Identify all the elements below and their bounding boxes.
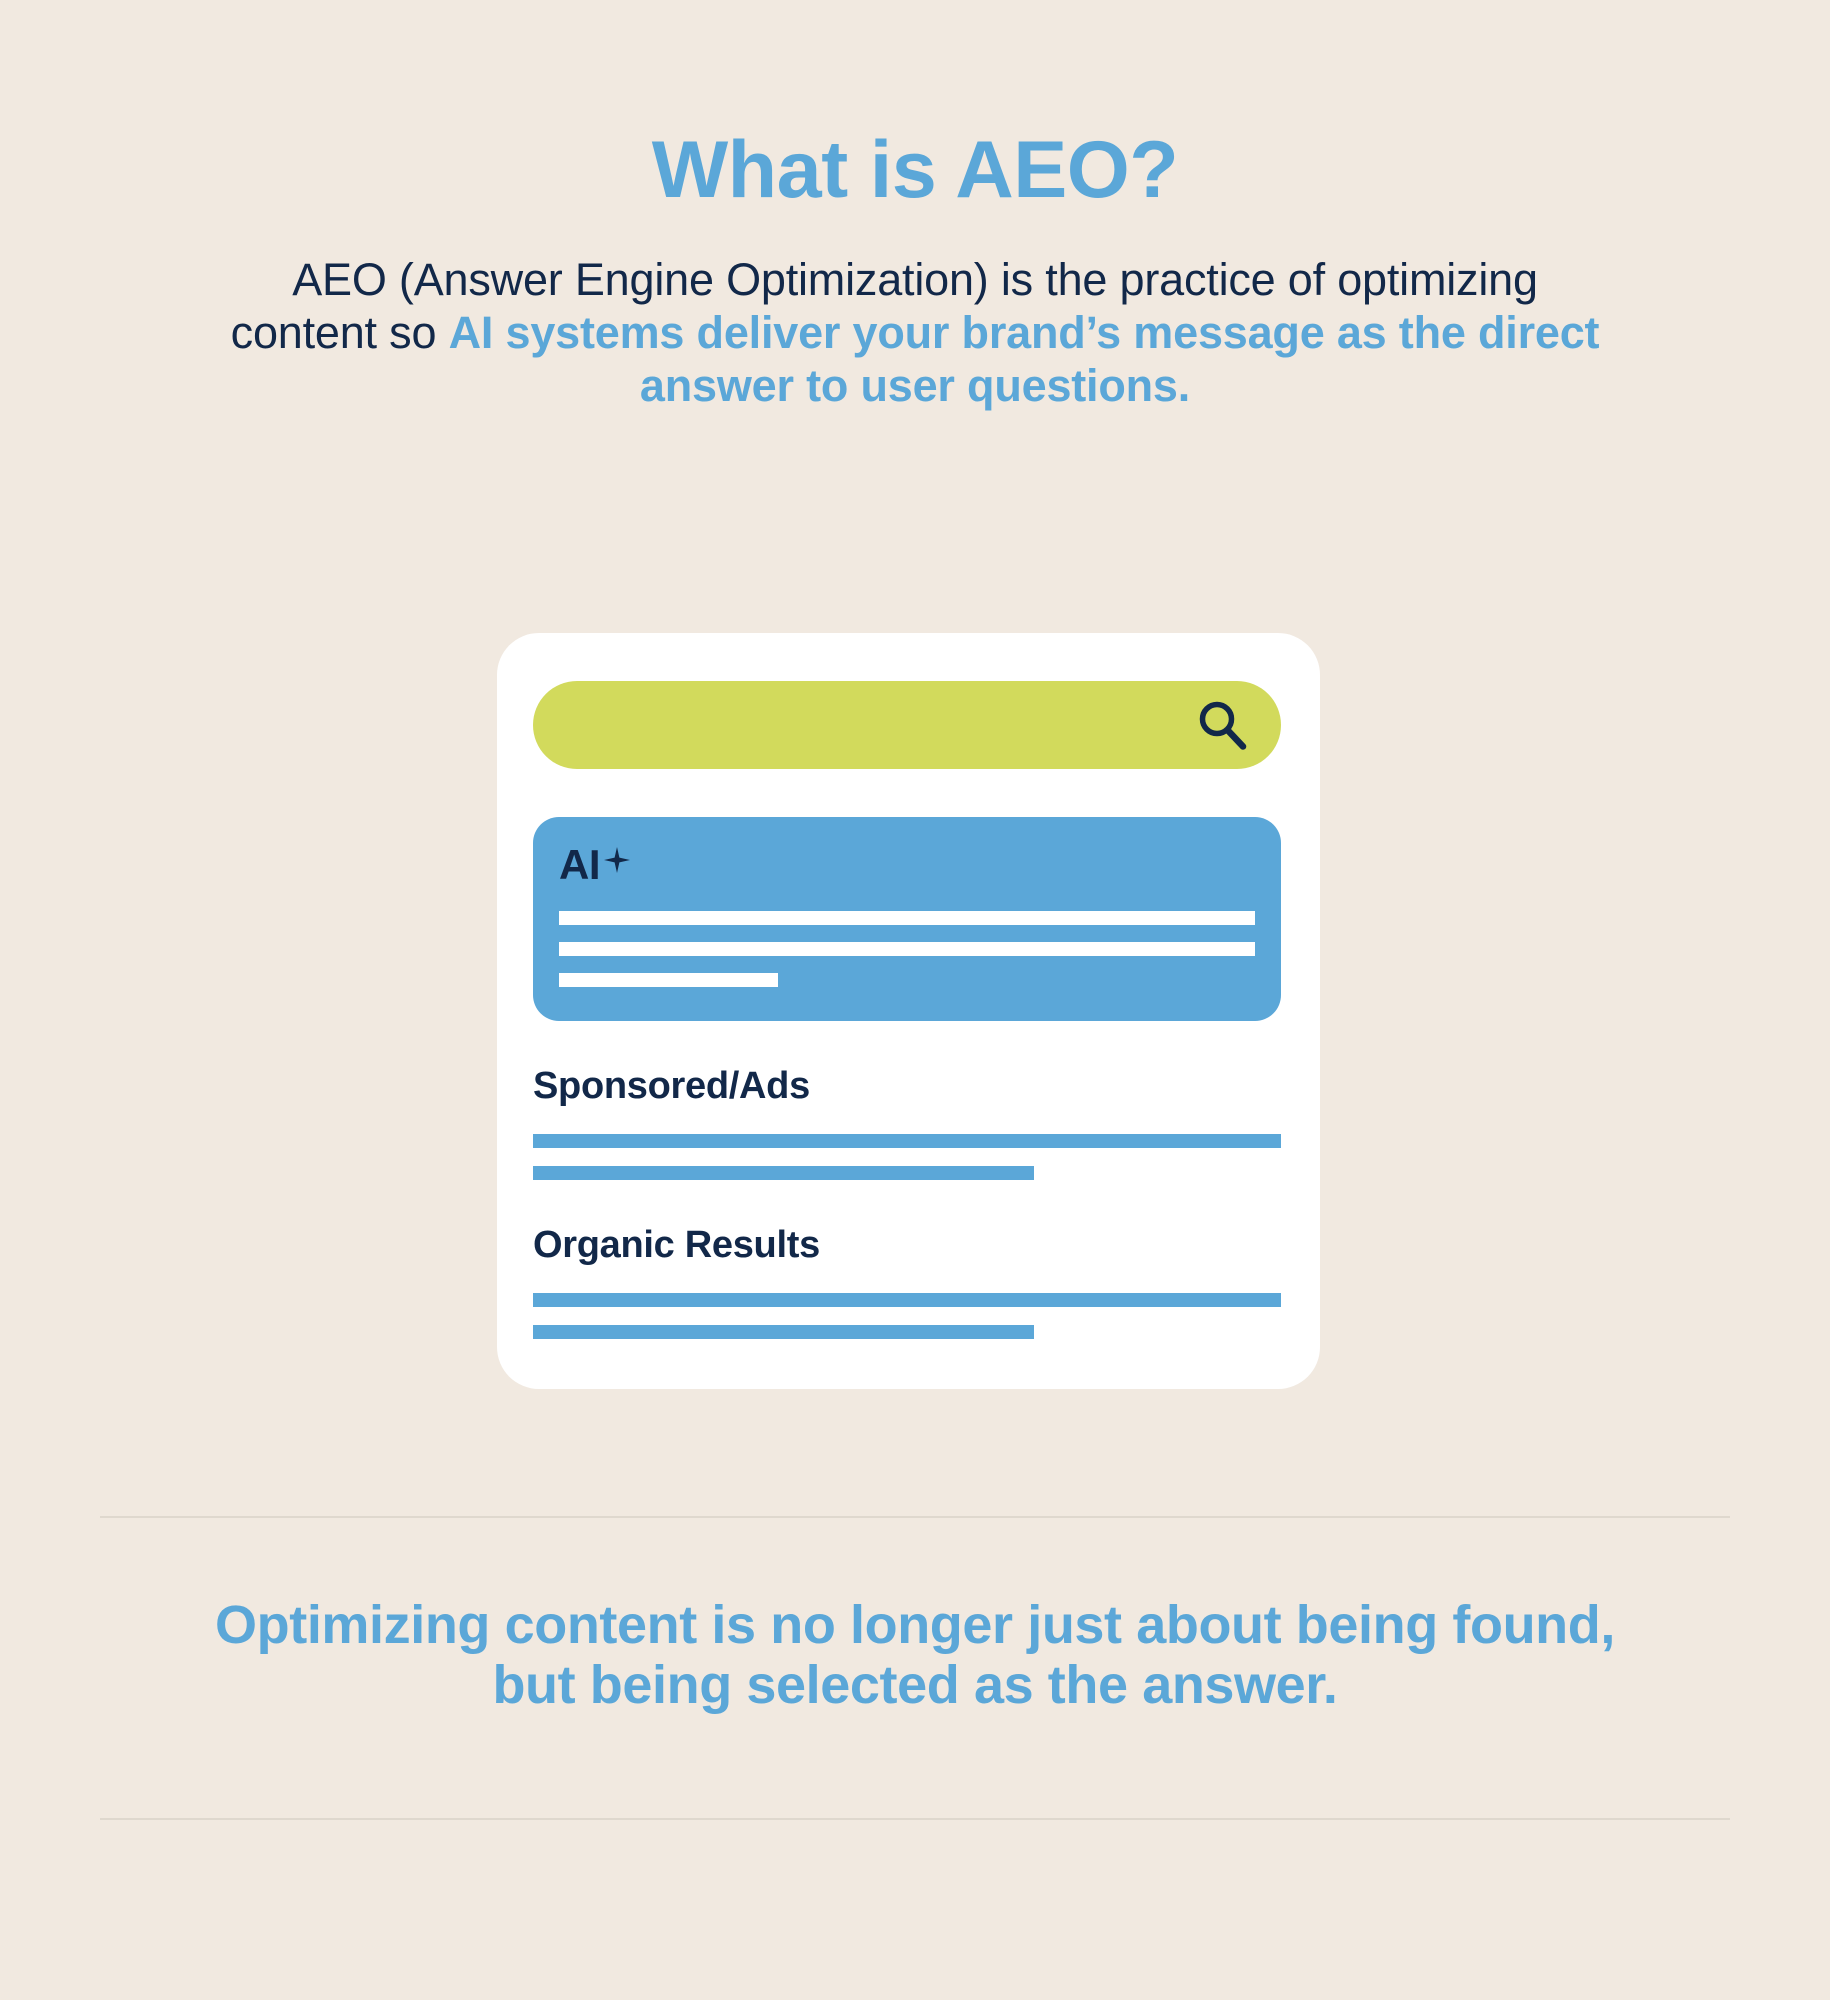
result-line	[533, 1325, 1034, 1339]
closing-quote: Optimizing content is no longer just abo…	[0, 1595, 1830, 1716]
ai-answer-line	[559, 973, 778, 987]
ai-answer-block[interactable]: AI	[533, 817, 1281, 1021]
infographic-page: What is AEO? AEO (Answer Engine Optimiza…	[0, 0, 1830, 2000]
ai-label: AI	[559, 845, 600, 885]
subtitle-accent-text: AI systems deliver your brand’s message …	[449, 307, 1600, 411]
section-organic-results: Organic Results	[533, 1224, 1281, 1339]
quote-line-2: but being selected as the answer.	[0, 1655, 1830, 1715]
ai-answer-line	[559, 942, 1255, 956]
result-line	[533, 1134, 1281, 1148]
header-block: What is AEO? AEO (Answer Engine Optimiza…	[215, 130, 1615, 412]
result-line	[533, 1166, 1034, 1180]
ai-label-row: AI	[559, 845, 1255, 885]
search-card-illustration: AI Sponsored/Ads Organic Results	[497, 633, 1320, 1389]
result-line	[533, 1293, 1281, 1307]
section-title-organic-results: Organic Results	[533, 1224, 1281, 1267]
subtitle-paragraph: AEO (Answer Engine Optimization) is the …	[230, 253, 1600, 412]
divider-bottom	[100, 1818, 1730, 1820]
ai-answer-line	[559, 911, 1255, 925]
section-title-sponsored-ads: Sponsored/Ads	[533, 1065, 1281, 1108]
divider-top	[100, 1516, 1730, 1518]
section-sponsored-ads: Sponsored/Ads	[533, 1065, 1281, 1180]
search-card: AI Sponsored/Ads Organic Results	[497, 633, 1320, 1389]
sparkle-icon	[604, 847, 630, 873]
quote-line-1: Optimizing content is no longer just abo…	[0, 1595, 1830, 1655]
page-title: What is AEO?	[215, 130, 1615, 211]
search-input[interactable]	[533, 681, 1281, 769]
search-icon	[1195, 698, 1249, 752]
